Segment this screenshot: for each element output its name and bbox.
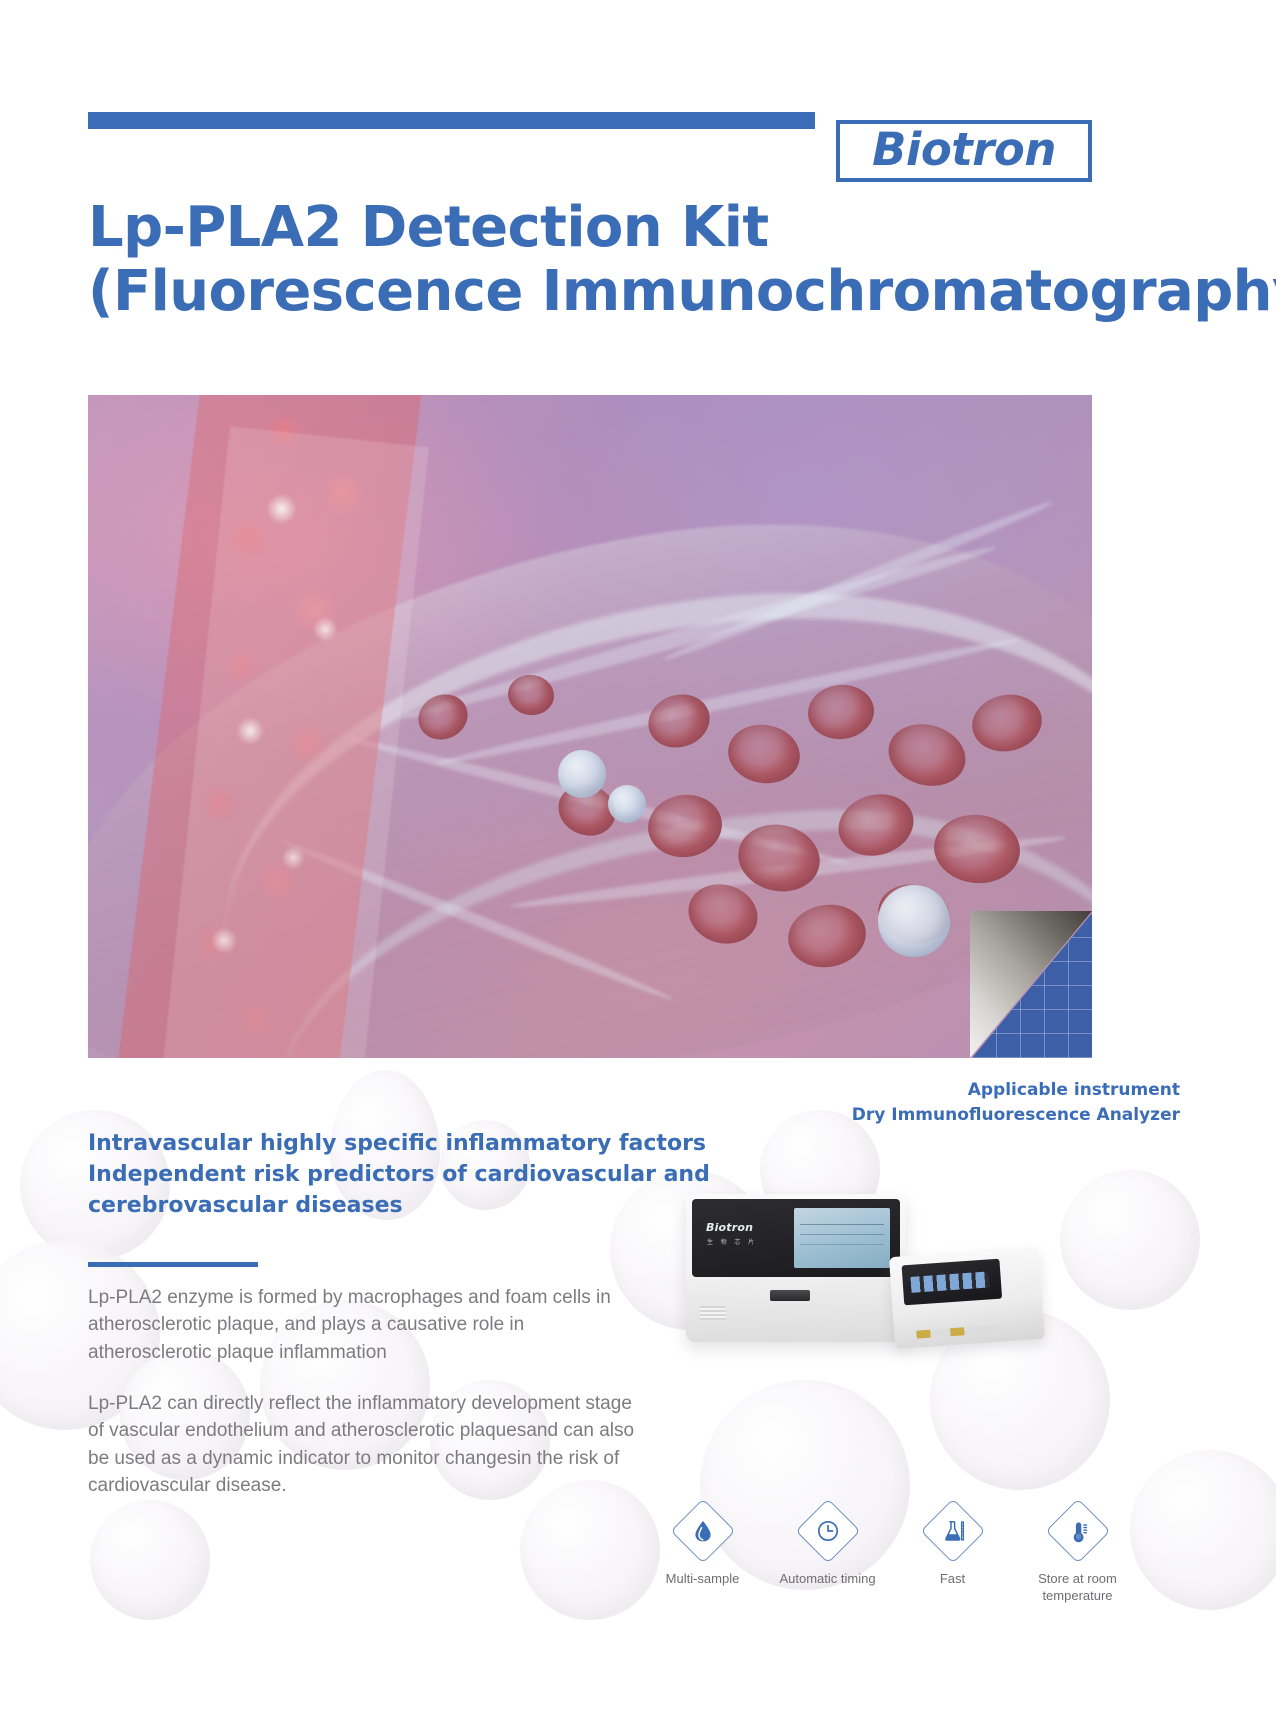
page-title-line-2: (Fluorescence Immunochromatography) [88, 260, 1118, 324]
brand-logo-text: Biotron [872, 127, 1056, 175]
body-copy: Lp-PLA2 enzyme is formed by macrophages … [88, 1284, 648, 1500]
section-headline: Intravascular highly specific inflammato… [88, 1128, 710, 1222]
headline-divider [88, 1262, 258, 1267]
feature-label: Multi-sample [666, 1571, 740, 1588]
portable-analyzer-screen [902, 1259, 1003, 1306]
analyzer-brand-text: Biotron [706, 1221, 753, 1234]
benchtop-analyzer: Biotron 生 物 芯 片 [686, 1194, 906, 1342]
body-paragraph-1: Lp-PLA2 enzyme is formed by macrophages … [88, 1284, 648, 1366]
feature-label: Store at room temperature [1038, 1571, 1117, 1604]
analyzer-screen [794, 1208, 890, 1268]
portable-analyzer-ports [916, 1325, 996, 1339]
feature-item-store-at-room-temperature: Store at room temperature [1015, 1508, 1140, 1604]
droplet-icon [670, 1498, 735, 1563]
feature-item-multi-sample: Multi-sample [640, 1508, 765, 1604]
feature-list: Multi-sample Automatic timing Fast [640, 1508, 1140, 1604]
section-headline-line-3: cerebrovascular diseases [88, 1190, 710, 1221]
page-title: Lp-PLA2 Detection Kit (Fluorescence Immu… [88, 196, 1118, 324]
analyzer-vent [700, 1306, 726, 1320]
feature-label: Automatic timing [779, 1571, 875, 1588]
feature-item-fast: Fast [890, 1508, 1015, 1604]
flask-icon [920, 1498, 985, 1563]
thermometer-icon [1045, 1498, 1110, 1563]
applicable-instrument-value: Dry Immunofluorescence Analyzer [852, 1103, 1180, 1128]
feature-item-automatic-timing: Automatic timing [765, 1508, 890, 1604]
section-headline-line-2: Independent risk predictors of cardiovas… [88, 1159, 710, 1190]
section-headline-line-1: Intravascular highly specific inflammato… [88, 1128, 710, 1159]
feature-label: Fast [940, 1571, 965, 1588]
clock-icon [795, 1498, 860, 1563]
applicable-instrument-caption: Applicable instrument Dry Immunofluoresc… [852, 1078, 1180, 1127]
hero-image-blood-vessel [88, 395, 1092, 1058]
instrument-photos: Biotron 生 物 芯 片 [660, 1180, 1080, 1380]
brand-logo: Biotron [836, 120, 1092, 182]
analyzer-subtitle-text: 生 物 芯 片 [707, 1237, 757, 1246]
header-accent-bar [88, 112, 815, 129]
analyzer-front-panel: Biotron 生 物 芯 片 [692, 1199, 900, 1277]
analyzer-cartridge-slot [770, 1290, 810, 1301]
portable-analyzer [889, 1247, 1045, 1349]
hero-sheen-overlay [88, 395, 1092, 1058]
page-title-line-1: Lp-PLA2 Detection Kit [88, 196, 1118, 260]
body-paragraph-2: Lp-PLA2 can directly reflect the inflamm… [88, 1390, 648, 1499]
applicable-instrument-label: Applicable instrument [852, 1078, 1180, 1103]
